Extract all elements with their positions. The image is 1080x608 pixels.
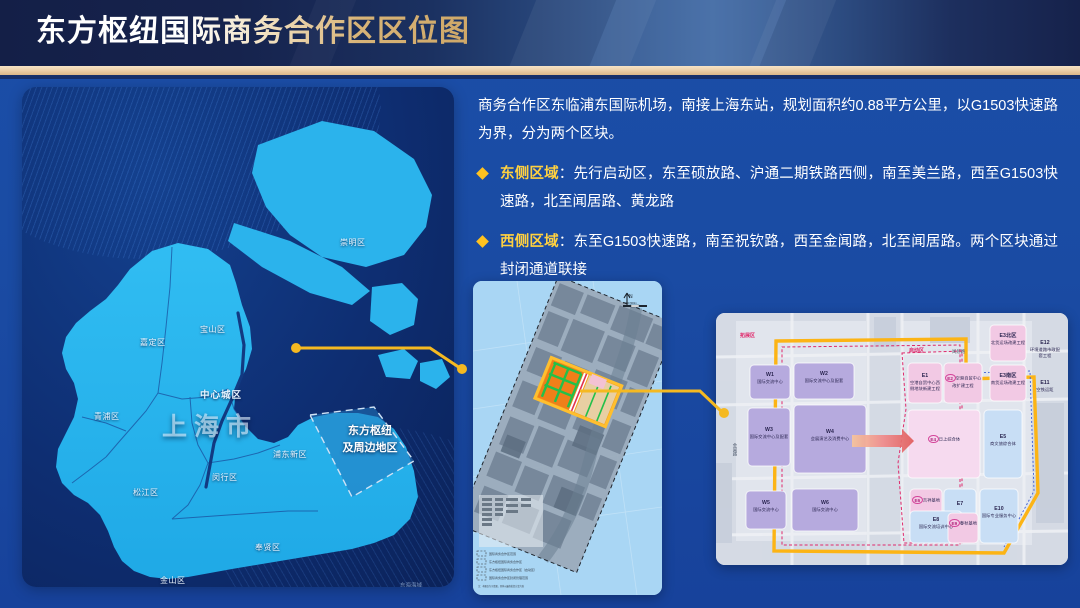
svg-text:东方枢纽国际商务合作区: 东方枢纽国际商务合作区 [489,559,522,564]
connector-dot-end [457,364,467,374]
zoning-plan-map[interactable]: N 0 250 500m [473,281,662,595]
intro-paragraph: 商务合作区东临浦东国际机场，南接上海东站，规划面积约0.88平方公里，以G150… [478,92,1058,148]
island-small-2 [420,359,450,389]
plan-block-E9[interactable] [948,513,978,543]
plan-block-E10[interactable] [980,489,1018,543]
district-label-5: 浦东新区 [273,449,307,460]
plan-block-E3南区[interactable] [990,365,1026,401]
bullet-separator-1: ： [559,234,574,250]
plan-block-E2[interactable] [944,363,982,403]
city-name-label: 上海市 [162,407,258,443]
zoning-plan-svg: N 0 250 500m [473,281,662,595]
district-label-0: 崇明区 [340,237,366,248]
hub-callout-line-0: 东方枢纽 [322,423,418,440]
zoning-legend [479,495,543,547]
plan-road-tag-1: 金闻路 [732,443,738,456]
plan-block-W1[interactable] [750,365,790,399]
header-rule-shadow [0,75,1080,79]
district-hengsha [370,283,418,335]
plan-block-W2[interactable] [794,363,854,399]
bullet-key-0: 东侧区域 [500,166,559,182]
plan-block-W3[interactable] [748,408,790,466]
diamond-icon [476,167,489,180]
district-label-3: 中心城区 [200,387,242,401]
svg-text:国际商务合作区封闭管理范围: 国际商务合作区封闭管理范围 [489,575,528,580]
bullet-key-1: 西侧区域 [500,234,559,250]
plan-block-W5[interactable] [746,491,786,529]
slide-root: 东方枢纽国际商务合作区区位图 [0,0,1080,608]
hub-callout-line-1: 及周边地区 [322,440,418,457]
shanghai-location-map: 上海市 东方枢纽及周边地区 东海海域 崇明区宝山区嘉定区中心城区青浦区浦东新区闵… [22,87,454,587]
svg-text:N: N [629,294,633,300]
district-label-9: 金山区 [160,575,186,586]
svg-text:东方枢纽国际商务合作区（启动区）: 东方枢纽国际商务合作区（启动区） [489,567,537,572]
district-label-7: 松江区 [133,487,159,498]
plan-zone-tag-0: 拓展区 [740,332,755,339]
shanghai-districts-svg [22,87,454,587]
plan-block-E3北区[interactable] [990,325,1026,361]
header-slant-decor-3 [576,0,794,66]
header-bar: 东方枢纽国际商务合作区区位图 [0,0,1080,66]
diamond-icon [476,235,489,248]
district-label-4: 青浦区 [94,411,120,422]
plan-block-E1[interactable] [908,363,942,403]
header-gold-rule [0,66,1080,75]
bullet-item-1: 西侧区域：东至G1503快速路，南至祝钦路，西至金闻路，北至闻居路。两个区块通过… [478,228,1058,284]
plan-block-E4[interactable] [908,410,980,478]
district-label-8: 奉贤区 [255,542,281,553]
page-title: 东方枢纽国际商务合作区区位图 [36,11,470,53]
island-small-1 [378,349,418,379]
bullet-item-0: 东侧区域：先行启动区，东至硕放路、沪通二期铁路西侧，南至美兰路，西至G1503快… [478,160,1058,216]
svg-text:国际商务合作区范围: 国际商务合作区范围 [489,551,516,556]
bullet-body-1: 东至G1503快速路，南至祝钦路，西至金闻路，北至闻居路。两个区块通过封闭通道联… [500,234,1058,278]
district-label-6: 闵行区 [212,472,238,483]
plan-road-tag-0: 闻居路 [952,349,965,355]
detailed-plan-map[interactable]: W1国际交流中心W2国际交流中心及配套W3国际交流中心及配套W4会展演艺及消费中… [716,313,1068,565]
svg-text:0 250 500m: 0 250 500m [623,301,637,305]
plan-block-W6[interactable] [792,489,858,531]
detailed-plan-svg [716,313,1068,565]
bullet-body-0: 先行启动区，东至硕放路、沪通二期铁路西侧，南至美兰路，西至G1503快速路，北至… [500,166,1058,210]
bullet-separator-0: ： [559,166,574,182]
sea-note-label: 东海海域 [400,581,422,587]
hub-callout-label: 东方枢纽及周边地区 [322,423,418,457]
plan-block-E5[interactable] [984,410,1022,478]
header-slant-decor-2 [496,0,664,66]
plan-zone-tag-1: 启动区 [909,347,924,354]
district-label-2: 嘉定区 [140,337,166,348]
bullet-list: 东侧区域：先行启动区，东至硕放路、沪通二期铁路西侧，南至美兰路，西至G1503快… [478,160,1058,284]
district-label-1: 宝山区 [200,324,226,335]
description-panel: 商务合作区东临浦东国际机场，南接上海东站，规划面积约0.88平方公里，以G150… [478,92,1058,284]
header-slant-decor-4 [736,0,844,66]
